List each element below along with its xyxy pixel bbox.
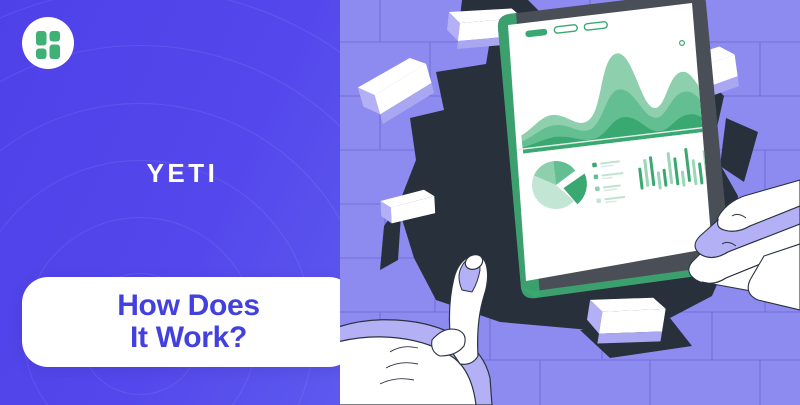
yeti-logo[interactable] (22, 17, 74, 69)
promo-banner: YETI How Does It Work? (0, 0, 800, 405)
wall-breakthrough-illustration (340, 0, 800, 405)
headline-card: How Does It Work? (22, 277, 355, 367)
brand-wordmark: YETI (0, 158, 365, 189)
headline-line-2: It Work? (117, 322, 260, 354)
logo-tiles-icon (22, 17, 74, 69)
illustration (340, 0, 800, 405)
page-title: How Does It Work? (117, 290, 260, 355)
headline-line-1: How Does (117, 289, 260, 322)
